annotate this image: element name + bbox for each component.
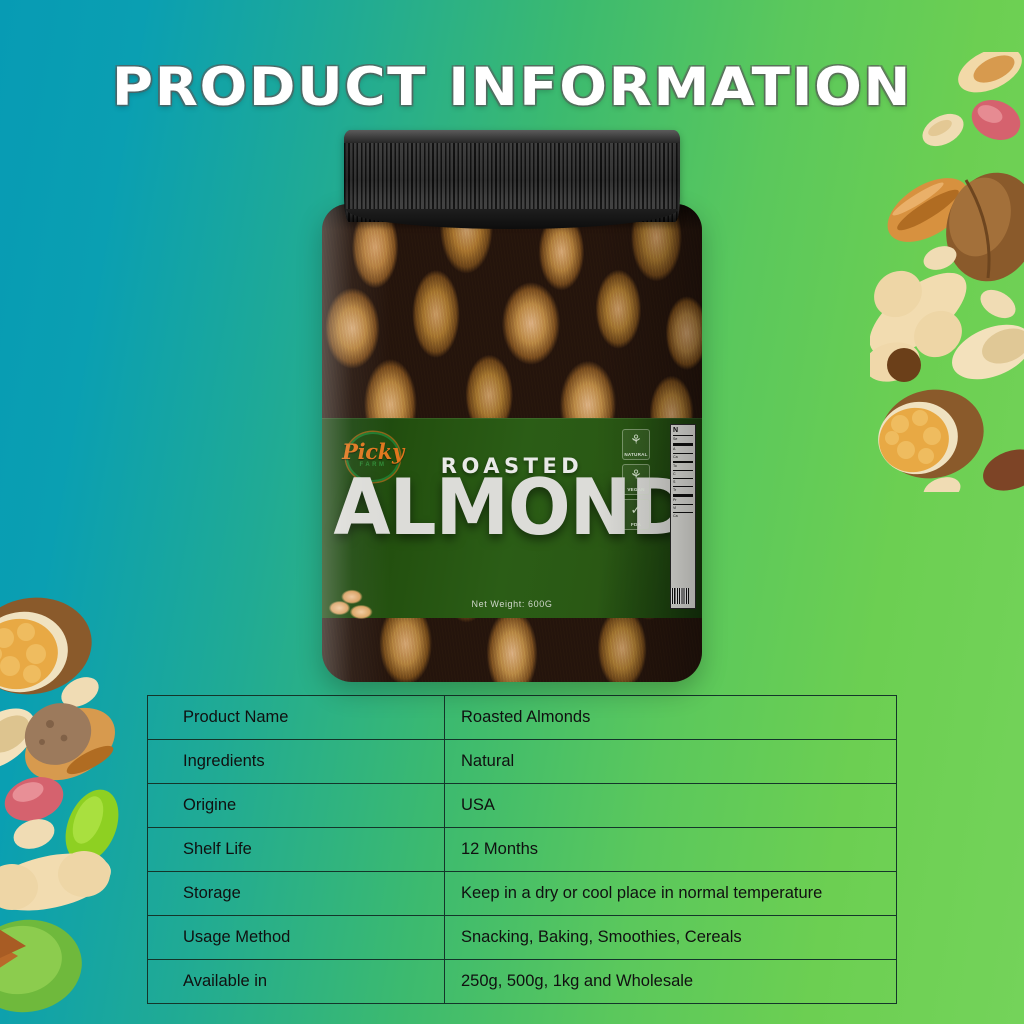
badge-vegan: ⚘ VEGAN <box>622 464 650 495</box>
nutrition-line: Pr <box>673 498 677 503</box>
spec-key: Origine <box>148 784 445 828</box>
badge-vegan-label: VEGAN <box>623 487 649 492</box>
nutrition-line: C <box>673 472 676 477</box>
spec-value: Snacking, Baking, Smoothies, Cereals <box>445 916 897 960</box>
nutrition-line: Tr <box>673 488 676 493</box>
nutrition-line: Ca <box>673 514 678 519</box>
certification-badges: ⚘ NATURAL ⚘ VEGAN ✓ FDA <box>622 429 648 534</box>
table-row: Origine USA <box>148 784 897 828</box>
table-row: Available in 250g, 500g, 1kg and Wholesa… <box>148 960 897 1004</box>
table-row: Storage Keep in a dry or cool place in n… <box>148 872 897 916</box>
nutrition-line: To <box>673 464 677 469</box>
leaf-icon: ⚘ <box>623 468 649 481</box>
spec-key: Available in <box>148 960 445 1004</box>
check-icon: ✓ <box>623 503 649 516</box>
peanut-kernel-icon <box>10 814 59 854</box>
spec-value: Roasted Almonds <box>445 696 897 740</box>
nutrition-heading: N <box>673 427 693 434</box>
nutrition-line: Se <box>673 437 677 442</box>
spec-key: Ingredients <box>148 740 445 784</box>
leaf-icon: ⚘ <box>623 433 649 446</box>
product-jar: Picky FARM ROASTED ALMOND ⚘ NATURAL ⚘ VE… <box>322 130 702 682</box>
poster-canvas: PRODUCT INFORMATION Picky FARM ROASTED A… <box>0 0 1024 1024</box>
spec-value: 250g, 500g, 1kg and Wholesale <box>445 960 897 1004</box>
spec-key: Usage Method <box>148 916 445 960</box>
product-spec-table: Product Name Roasted Almonds Ingredients… <box>147 695 897 1004</box>
spec-key: Product Name <box>148 696 445 740</box>
spec-value: Natural <box>445 740 897 784</box>
spec-table-body: Product Name Roasted Almonds Ingredients… <box>148 696 897 1004</box>
spec-value: Keep in a dry or cool place in normal te… <box>445 872 897 916</box>
spec-key: Storage <box>148 872 445 916</box>
nutrition-line: A <box>673 447 675 452</box>
net-weight: Net Weight: 600G <box>322 599 702 609</box>
badge-natural-label: NATURAL <box>623 452 649 457</box>
jar-lid <box>344 130 680 222</box>
peanut-kernel-icon <box>976 284 1021 324</box>
nutrition-facts-panel: N Se A Ca To C S Tr Pr <box>670 424 696 609</box>
date-nut-icon <box>977 442 1024 492</box>
product-label: Picky FARM ROASTED ALMOND ⚘ NATURAL ⚘ VE… <box>322 418 702 618</box>
decor-nuts-left <box>0 594 152 1024</box>
nutrition-line: Ca <box>673 455 678 460</box>
badge-fda-label: FDA <box>623 522 649 527</box>
spec-key: Shelf Life <box>148 828 445 872</box>
badge-fda: ✓ FDA <box>622 499 650 530</box>
nutrition-line: Vi <box>673 506 676 511</box>
table-row: Shelf Life 12 Months <box>148 828 897 872</box>
page-title: PRODUCT INFORMATION <box>0 57 1024 118</box>
jar-body: Picky FARM ROASTED ALMOND ⚘ NATURAL ⚘ VE… <box>322 204 702 682</box>
table-row: Ingredients Natural <box>148 740 897 784</box>
badge-natural: ⚘ NATURAL <box>622 429 650 460</box>
spec-value: USA <box>445 784 897 828</box>
nutrition-line: S <box>673 480 675 485</box>
spec-value: 12 Months <box>445 828 897 872</box>
decor-nuts-right <box>870 52 1024 492</box>
table-row: Usage Method Snacking, Baking, Smoothies… <box>148 916 897 960</box>
table-row: Product Name Roasted Almonds <box>148 696 897 740</box>
